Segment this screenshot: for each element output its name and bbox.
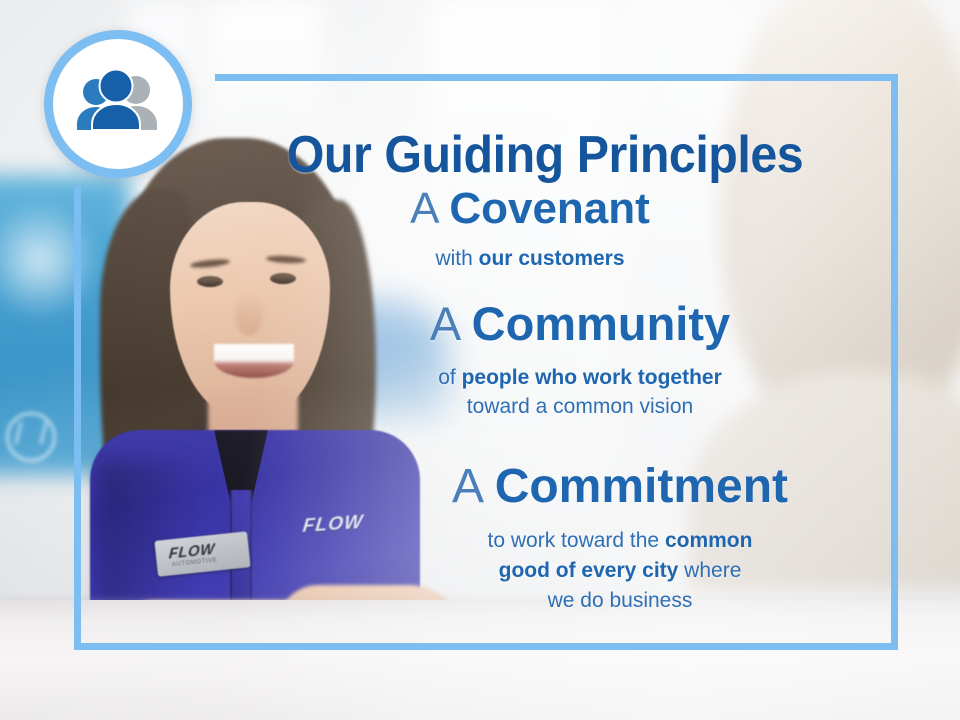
white-counter [0,600,960,720]
detail-line: we do business [340,586,900,616]
principle-covenant-word: Covenant [449,184,649,233]
associate-nose [235,292,263,336]
principle-commitment: A Commitment to work toward the common g… [340,462,900,615]
principle-community-heading: A Community [300,300,860,349]
principle-commitment-heading: A Commitment [340,462,900,512]
detail-line: to work toward the common [340,526,900,556]
associate-eye-left [197,276,223,287]
principle-covenant-detail: with our customers [250,246,810,272]
people-group-badge [44,30,192,178]
detail-line: toward a common vision [300,392,860,421]
detail-line: of people who work together [300,363,860,392]
principle-community-article: A [430,297,459,350]
principle-covenant-heading: A Covenant [250,186,810,232]
associate-eye-right [270,273,296,284]
principle-community-detail: of people who work together toward a com… [300,363,860,422]
people-group-icon [70,68,166,140]
associate-smile [214,344,294,378]
principle-covenant: A Covenant with our customers [250,186,810,272]
detail-line: good of every city where [340,556,900,586]
principle-commitment-article: A [452,460,481,513]
detail-line: with our customers [250,246,810,272]
page-title: Our Guiding Principles [238,129,852,181]
principle-community: A Community of people who work together … [300,300,860,422]
principle-community-word: Community [472,297,731,350]
principle-commitment-word: Commitment [495,460,788,513]
principle-commitment-detail: to work toward the common good of every … [340,526,900,615]
promotional-graphic: FLOW FLOW AUTOMOTIVE [0,0,960,720]
principle-covenant-article: A [410,184,437,233]
